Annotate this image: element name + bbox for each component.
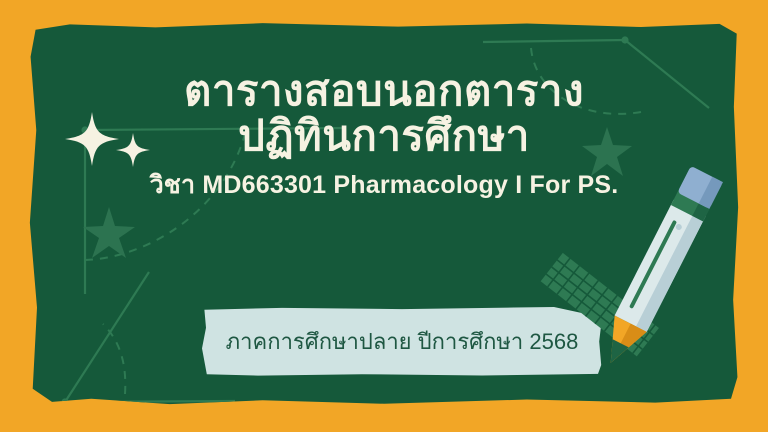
pencil-icon [595,166,723,371]
slide-canvas: ตารางสอบนอกตาราง ปฏิทินการศึกษา วิชา MD6… [0,0,768,432]
stationery-illustration-layer [27,22,741,408]
chalkboard-panel: ตารางสอบนอกตาราง ปฏิทินการศึกษา วิชา MD6… [27,22,741,408]
